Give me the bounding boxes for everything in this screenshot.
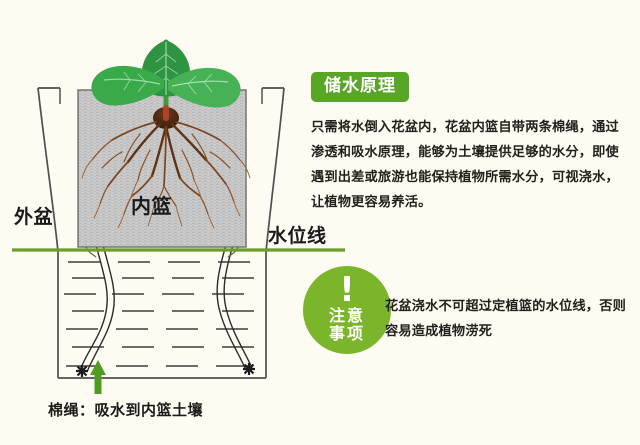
warning-badge-circle: ! 注意 事项	[303, 266, 391, 354]
label-water-level-line: 水位线	[268, 221, 327, 248]
principle-line: 只需将水倒入花盆内，花盆内篮自带两条棉绳，通过	[311, 115, 611, 140]
green-up-arrow-icon	[90, 360, 106, 394]
exclamation-icon: !	[303, 266, 391, 307]
rope-tip-left	[76, 365, 88, 377]
warning-body-text: 花盆浇水不可超过定植篮的水位线，否则 容易造成植物涝死	[385, 294, 626, 344]
warning-badge-line-2: 事项	[303, 325, 391, 343]
principle-badge: 储水原理	[311, 72, 409, 102]
principle-line: 遇到出差或旅游也能保持植物所需水分，可视浇水，	[311, 165, 611, 190]
principle-panel: 储水原理 只需将水倒入花盆内，花盆内篮自带两条棉绳，通过 渗透和吸水原理，能够为…	[311, 72, 631, 215]
principle-line: 渗透和吸水原理，能够为土壤提供足够的水分，即使	[311, 140, 611, 165]
warning-panel: ! 注意 事项 花盆浇水不可超过定植篮的水位线，否则 容易造成植物涝死	[303, 266, 640, 370]
infographic-canvas: 外盆 内篮 水位线 棉绳：吸水到内篮土壤 储水原理 只需将水倒入花盆内，花盆内篮…	[0, 0, 640, 445]
warning-line: 容易造成植物涝死	[385, 319, 626, 344]
label-inner-basket: 内篮	[131, 190, 172, 219]
principle-line: 让植物更容易养活。	[311, 190, 611, 215]
rope-tip-right	[243, 363, 255, 375]
warning-badge-line-1: 注意	[303, 307, 391, 325]
principle-body-text: 只需将水倒入花盆内，花盆内篮自带两条棉绳，通过 渗透和吸水原理，能够为土壤提供足…	[311, 115, 611, 215]
cotton-rope-right	[217, 245, 255, 375]
label-rope-caption: 棉绳：吸水到内篮土壤	[48, 399, 203, 420]
warning-line: 花盆浇水不可超过定植篮的水位线，否则	[385, 294, 626, 319]
label-outer-pot: 外盆	[14, 202, 53, 229]
